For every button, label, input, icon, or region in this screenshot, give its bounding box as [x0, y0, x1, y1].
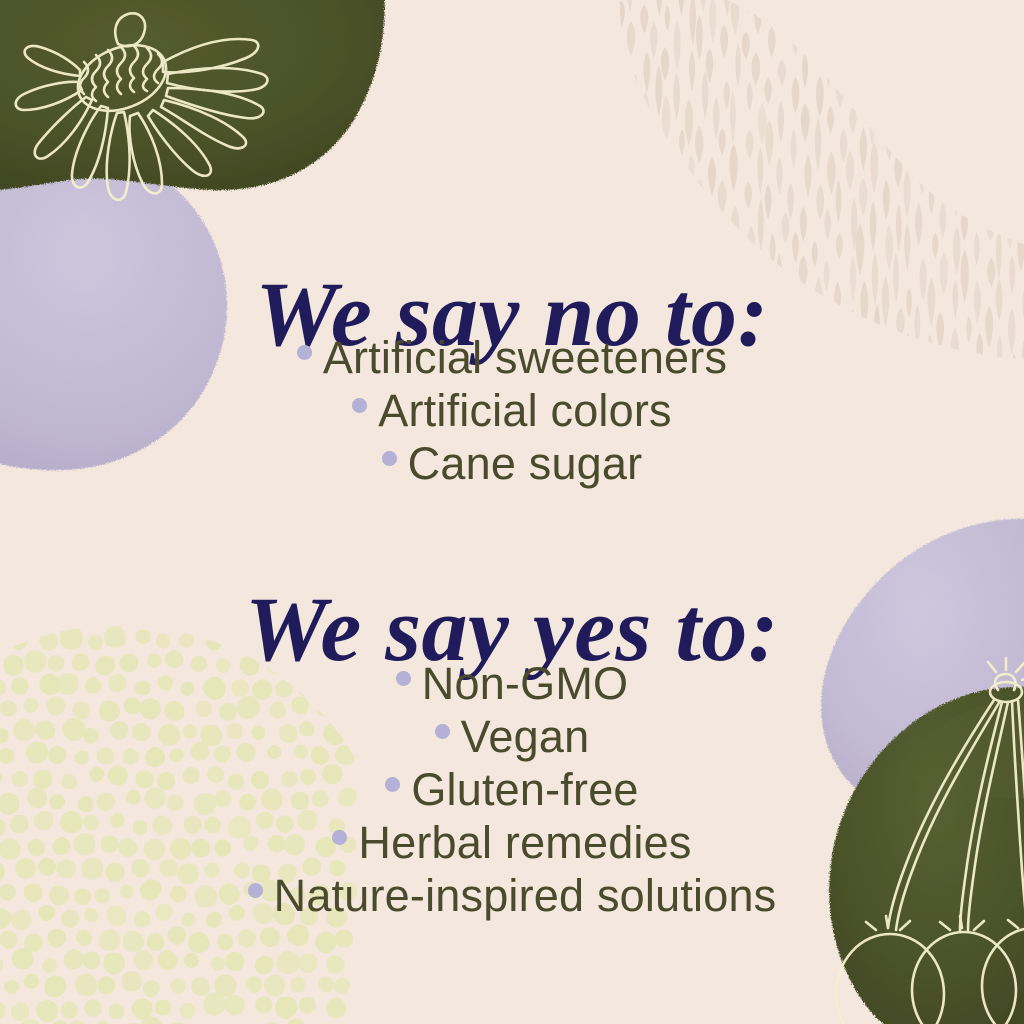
list-no-to: Artificial sweeteners Artificial colors …: [0, 331, 1024, 490]
list-item-yes-1: Vegan: [0, 710, 1024, 763]
list-item-label: Vegan: [461, 711, 590, 762]
list-item-label: Artificial sweeteners: [323, 332, 727, 383]
list-item-no-2: Cane sugar: [0, 437, 1024, 490]
list-item-no-0: Artificial sweeteners: [0, 331, 1024, 384]
list-item-label: Cane sugar: [408, 438, 643, 489]
list-item-yes-3: Herbal remedies: [0, 816, 1024, 869]
poster-canvas: We say no to: Artificial sweeteners Arti…: [0, 0, 1024, 1024]
list-item-label: Artificial colors: [378, 385, 671, 436]
list-item-yes-2: Gluten-free: [0, 763, 1024, 816]
list-item-yes-4: Nature-inspired solutions: [0, 869, 1024, 922]
bullet-dot-icon: [435, 724, 450, 739]
bullet-dot-icon: [382, 451, 397, 466]
list-yes-to: Non-GMO Vegan Gluten-free Herbal remedie…: [0, 657, 1024, 922]
list-item-label: Herbal remedies: [358, 817, 691, 868]
list-item-label: Gluten-free: [411, 764, 638, 815]
poster-content: We say no to: Artificial sweeteners Arti…: [0, 0, 1024, 1024]
list-item-label: Non-GMO: [422, 658, 628, 709]
list-item-label: Nature-inspired solutions: [274, 870, 777, 921]
list-item-yes-0: Non-GMO: [0, 657, 1024, 710]
bullet-dot-icon: [248, 883, 263, 898]
bullet-dot-icon: [297, 345, 312, 360]
bullet-dot-icon: [332, 830, 347, 845]
bullet-dot-icon: [385, 777, 400, 792]
list-item-no-1: Artificial colors: [0, 384, 1024, 437]
bullet-dot-icon: [352, 398, 367, 413]
bullet-dot-icon: [396, 671, 411, 686]
